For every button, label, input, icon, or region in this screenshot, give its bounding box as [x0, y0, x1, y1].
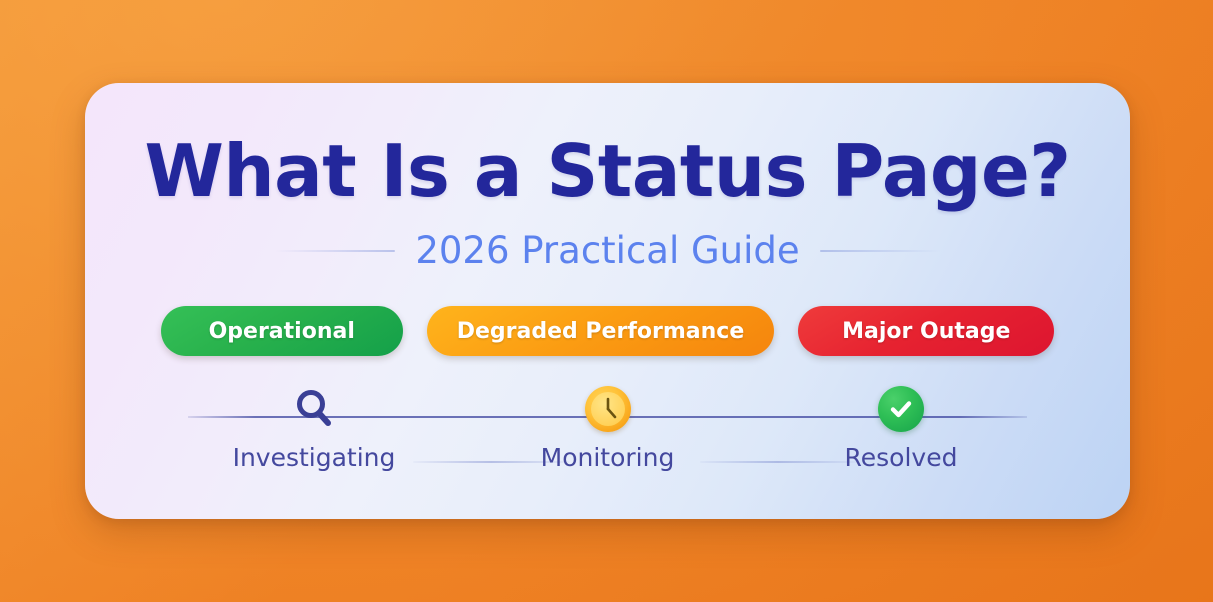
page-subtitle: 2026 Practical Guide — [415, 231, 799, 272]
timeline-step-resolved[interactable]: Resolved — [811, 383, 991, 472]
subtitle-rule-left — [275, 250, 395, 252]
check-circle-icon — [875, 383, 927, 435]
clock-icon — [582, 383, 634, 435]
status-badge-major-outage[interactable]: Major Outage — [798, 306, 1054, 356]
incident-timeline: Investigating Monitoring — [188, 383, 1027, 483]
page-title: What Is a Status Page? — [85, 135, 1130, 207]
magnifier-icon — [288, 383, 340, 435]
timeline-steps: Investigating Monitoring — [188, 383, 1027, 472]
timeline-step-label-investigating: Investigating — [233, 443, 396, 472]
status-pill-row: Operational Degraded Performance Major O… — [85, 306, 1130, 356]
timeline-step-investigating[interactable]: Investigating — [224, 383, 404, 472]
timeline-step-label-monitoring: Monitoring — [541, 443, 675, 472]
subtitle-row: 2026 Practical Guide — [85, 231, 1130, 272]
subtitle-rule-right — [820, 250, 940, 252]
status-badge-degraded[interactable]: Degraded Performance — [427, 306, 775, 356]
timeline-step-monitoring[interactable]: Monitoring — [518, 383, 698, 472]
status-badge-operational[interactable]: Operational — [161, 306, 403, 356]
hero-card: What Is a Status Page? 2026 Practical Gu… — [85, 83, 1130, 519]
timeline-step-label-resolved: Resolved — [845, 443, 958, 472]
